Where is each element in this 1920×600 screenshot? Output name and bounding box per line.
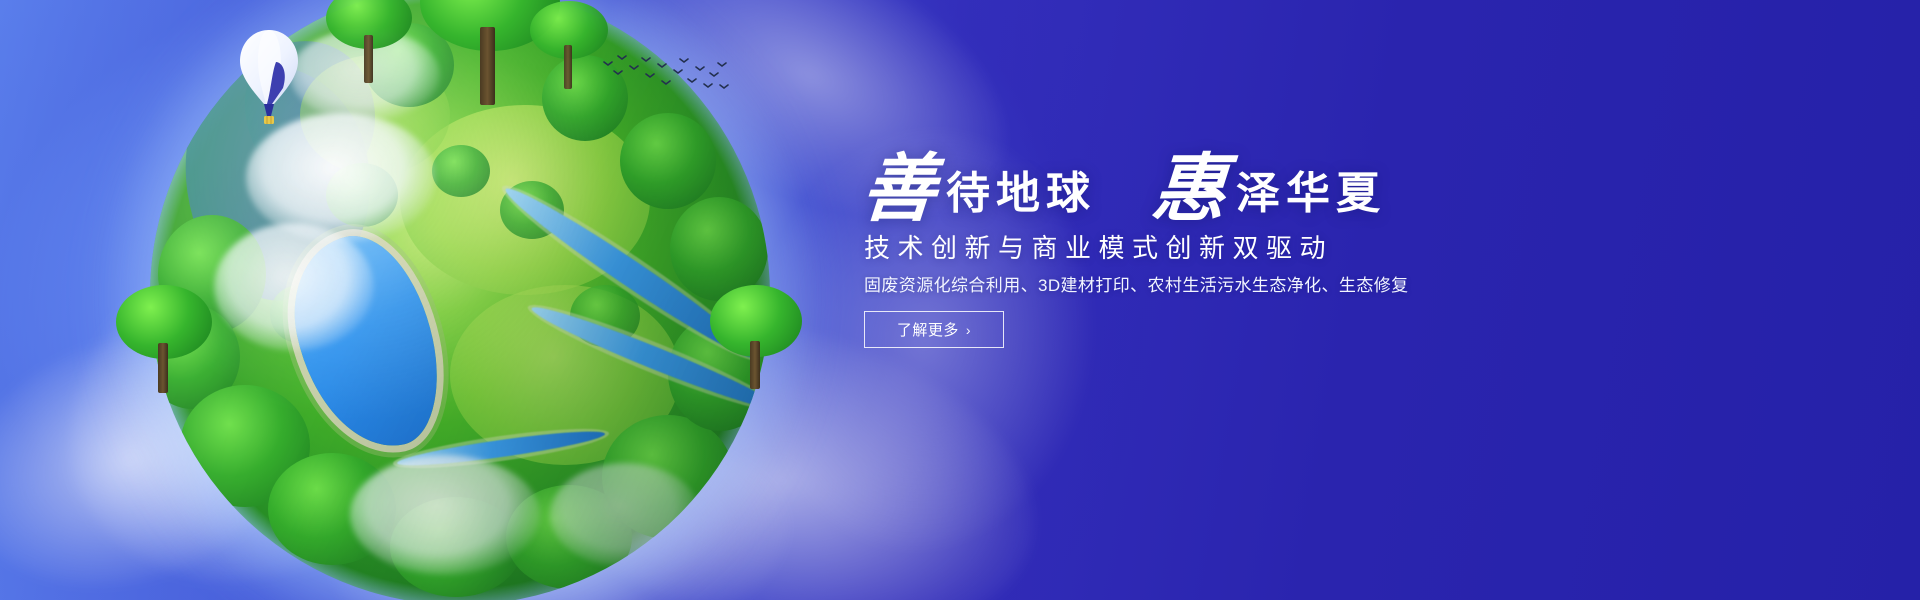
tree-icon xyxy=(530,1,608,89)
headline-lead-1: 善 xyxy=(860,154,939,225)
forest-canopy xyxy=(620,113,716,209)
meadow-patch xyxy=(450,285,680,465)
forest-canopy xyxy=(570,285,640,347)
learn-more-button[interactable]: 了解更多 › xyxy=(864,311,1004,348)
forest-canopy xyxy=(270,285,328,343)
tree-icon xyxy=(710,285,802,389)
forest-canopy xyxy=(390,497,522,597)
forest-canopy xyxy=(432,145,490,197)
hero-banner: 善 待地球 惠 泽华夏 技术创新与商业模式创新双驱动 固废资源化综合利用、3D建… xyxy=(0,0,1920,600)
headline-rest-1: 待地球 xyxy=(946,172,1096,216)
forest-canopy xyxy=(500,181,564,239)
cloud-icon xyxy=(214,223,374,351)
page-title: 善 待地球 惠 泽华夏 xyxy=(862,133,1386,225)
chevron-right-icon: › xyxy=(966,323,971,337)
learn-more-label: 了解更多 xyxy=(897,319,959,340)
hot-air-balloon-icon xyxy=(236,28,302,132)
tree-icon xyxy=(116,285,212,393)
cloud-icon xyxy=(550,463,700,567)
river xyxy=(396,425,606,471)
cloud-icon xyxy=(246,113,436,243)
headline-rest-2: 泽华夏 xyxy=(1236,172,1386,216)
lake xyxy=(279,224,453,462)
bird-flock-icon xyxy=(600,52,730,94)
headline-lead-2: 惠 xyxy=(1150,154,1229,225)
forest-canopy xyxy=(506,485,632,589)
tree-icon xyxy=(326,0,412,83)
cloud-icon xyxy=(350,455,540,575)
hero-subtitle: 技术创新与商业模式创新双驱动 xyxy=(864,228,1333,265)
forest-canopy xyxy=(268,453,396,565)
forest-canopy xyxy=(326,163,398,227)
hero-content: 善 待地球 惠 泽华夏 技术创新与商业模式创新双驱动 固废资源化综合利用、3D建… xyxy=(862,0,1722,600)
forest-canopy xyxy=(602,415,734,539)
hero-description: 固废资源化综合利用、3D建材打印、农村生活污水生态净化、生态修复 xyxy=(864,271,1409,296)
forest-canopy xyxy=(180,385,310,507)
meadow-patch xyxy=(400,105,650,295)
